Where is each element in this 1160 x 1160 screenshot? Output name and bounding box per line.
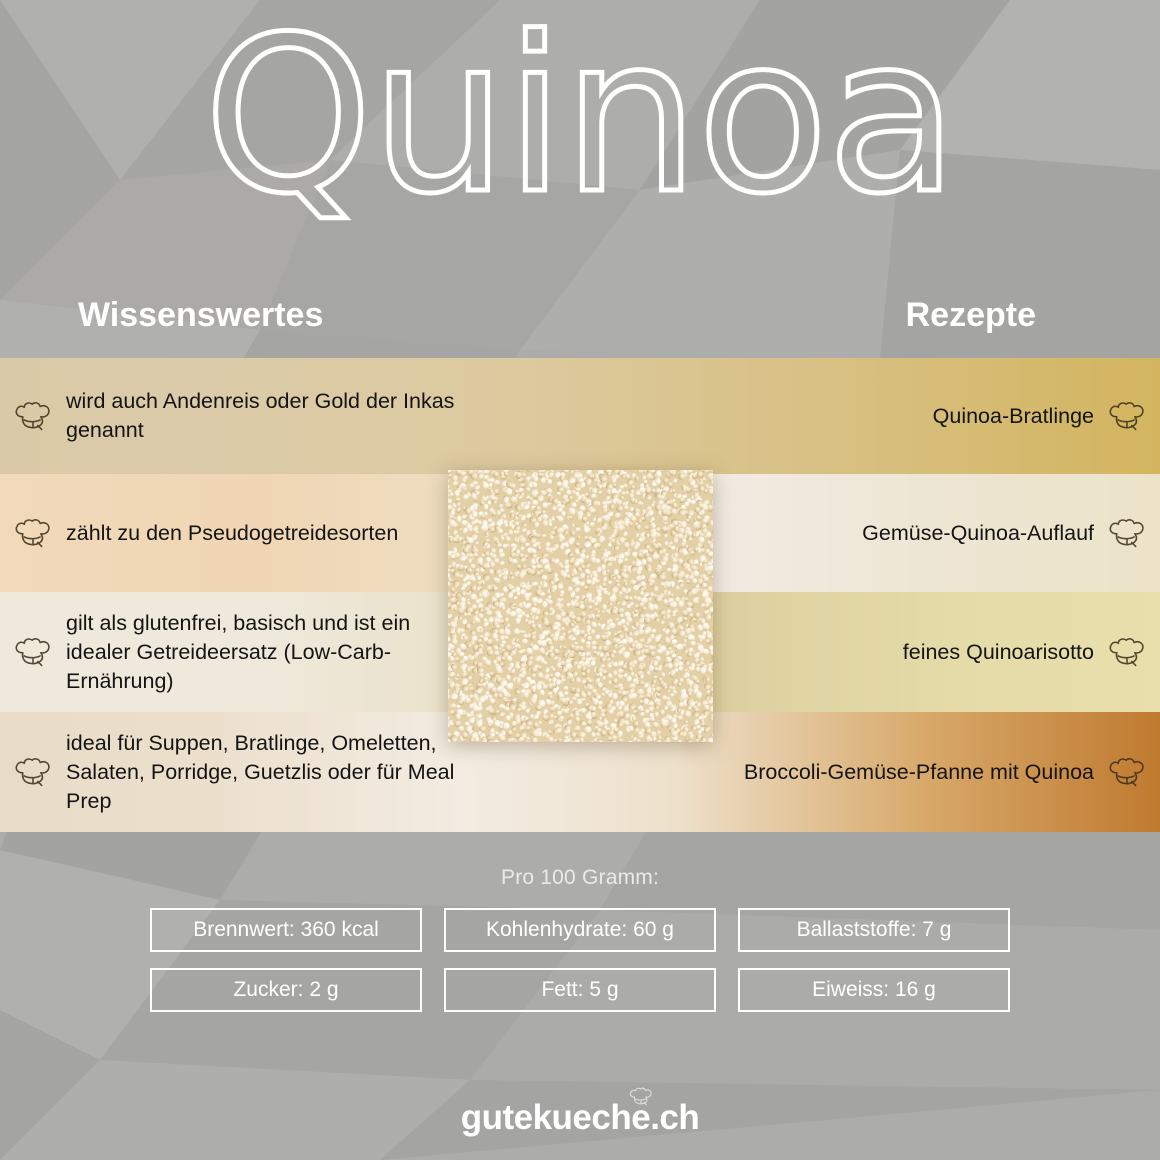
nutrition-cell-kohlenhydrate: Kohlenhydrate: 60 g [444,908,716,952]
site-logo[interactable]: gutekueche.ch [461,1098,700,1138]
nutrition-cell-eiweiss: Eiweiss: 16 g [738,968,1010,1012]
nutrition-grid: Brennwert: 360 kcal Kohlenhydrate: 60 g … [150,908,1010,1012]
chef-hat-icon [14,401,52,431]
chef-hat-icon [1108,637,1146,667]
nutrition-section: Pro 100 Gramm: Brennwert: 360 kcal Kohle… [0,832,1160,1082]
fact-text: wird auch Andenreis oder Gold der Inkas … [66,387,455,445]
recipe-text: feines Quinoarisotto [903,638,1094,667]
chef-hat-icon [1108,518,1146,548]
recipe-text: Gemüse-Quinoa-Auflauf [862,519,1094,548]
footer: gutekueche.ch [0,1098,1160,1138]
chef-hat-icon [1108,401,1146,431]
recipe-item[interactable]: Quinoa-Bratlinge [705,401,1160,431]
fact-text: zählt zu den Pseudogetreidesorten [66,519,398,548]
nutrition-title: Pro 100 Gramm: [501,866,659,890]
title-container: Quinoa [0,0,1160,230]
recipe-item[interactable]: Broccoli-Gemüse-Pfanne mit Quinoa [705,757,1160,787]
recipe-text: Broccoli-Gemüse-Pfanne mit Quinoa [744,758,1094,787]
column-heading-recipes: Rezepte [906,296,1036,335]
chef-hat-icon [629,1087,653,1106]
fact-item: ideal für Suppen, Bratlinge, Omeletten, … [0,729,455,816]
nutrition-cell-zucker: Zucker: 2 g [150,968,422,1012]
fact-item: gilt als glutenfrei, basisch und ist ein… [0,609,455,696]
site-logo-text: gutekueche.ch [461,1098,700,1137]
fact-item: zählt zu den Pseudogetreidesorten [0,518,455,548]
recipe-item[interactable]: Gemüse-Quinoa-Auflauf [705,518,1160,548]
chef-hat-icon [1108,757,1146,787]
nutrition-cell-brennwert: Brennwert: 360 kcal [150,908,422,952]
chef-hat-icon [14,757,52,787]
fact-item: wird auch Andenreis oder Gold der Inkas … [0,387,455,445]
quinoa-seeds-photo [448,470,713,742]
recipe-text: Quinoa-Bratlinge [933,402,1094,431]
recipe-item[interactable]: feines Quinoarisotto [705,637,1160,667]
nutrition-cell-ballaststoffe: Ballaststoffe: 7 g [738,908,1010,952]
fact-text: ideal für Suppen, Bratlinge, Omeletten, … [66,729,455,816]
table-row: wird auch Andenreis oder Gold der Inkas … [0,358,1160,474]
chef-hat-icon [14,637,52,667]
page-title: Quinoa [204,8,957,223]
chef-hat-icon [14,518,52,548]
fact-text: gilt als glutenfrei, basisch und ist ein… [66,609,455,696]
column-heading-facts: Wissenswertes [78,296,323,335]
nutrition-cell-fett: Fett: 5 g [444,968,716,1012]
